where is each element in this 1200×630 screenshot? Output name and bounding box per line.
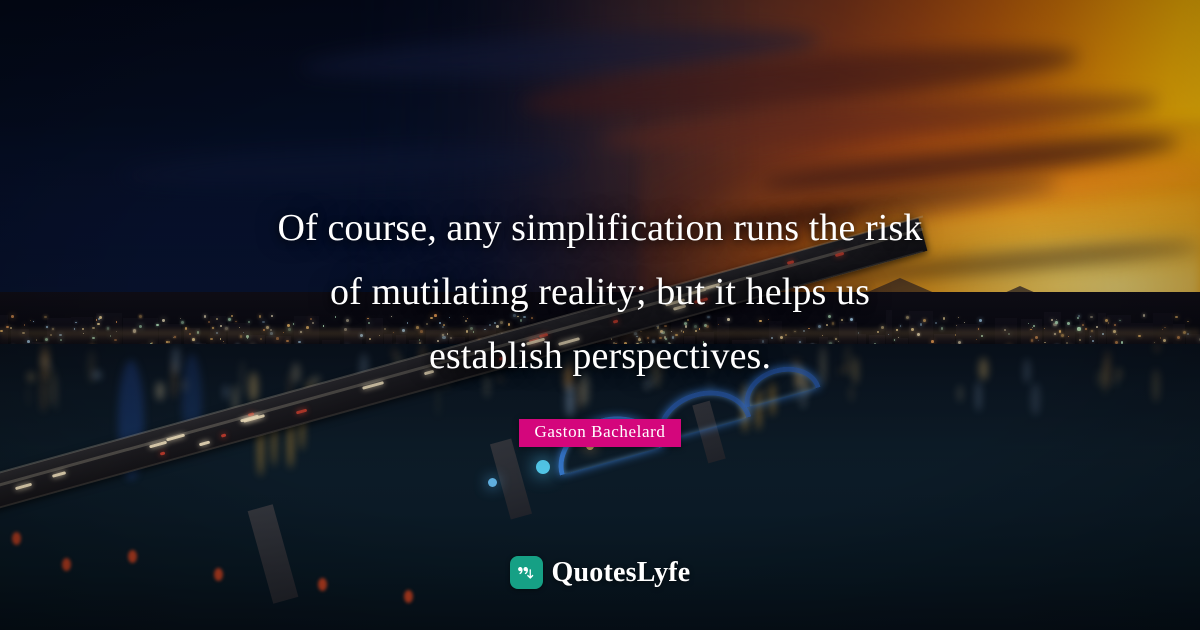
quote-line-3: establish perspectives.: [0, 324, 1200, 388]
quote-line-1: Of course, any simplification runs the r…: [0, 196, 1200, 260]
quote-text: Of course, any simplification runs the r…: [0, 196, 1200, 388]
author-badge[interactable]: Gaston Bachelard: [519, 419, 682, 447]
brand-name: QuotesLyfe: [552, 557, 691, 589]
brand-logo[interactable]: QuotesLyfe: [0, 556, 1200, 589]
author-badge-wrapper: Gaston Bachelard: [0, 419, 1200, 447]
quote-mark-icon: [510, 556, 543, 589]
quote-card: Of course, any simplification runs the r…: [0, 0, 1200, 630]
quote-line-2: of mutilating reality; but it helps us: [0, 260, 1200, 324]
